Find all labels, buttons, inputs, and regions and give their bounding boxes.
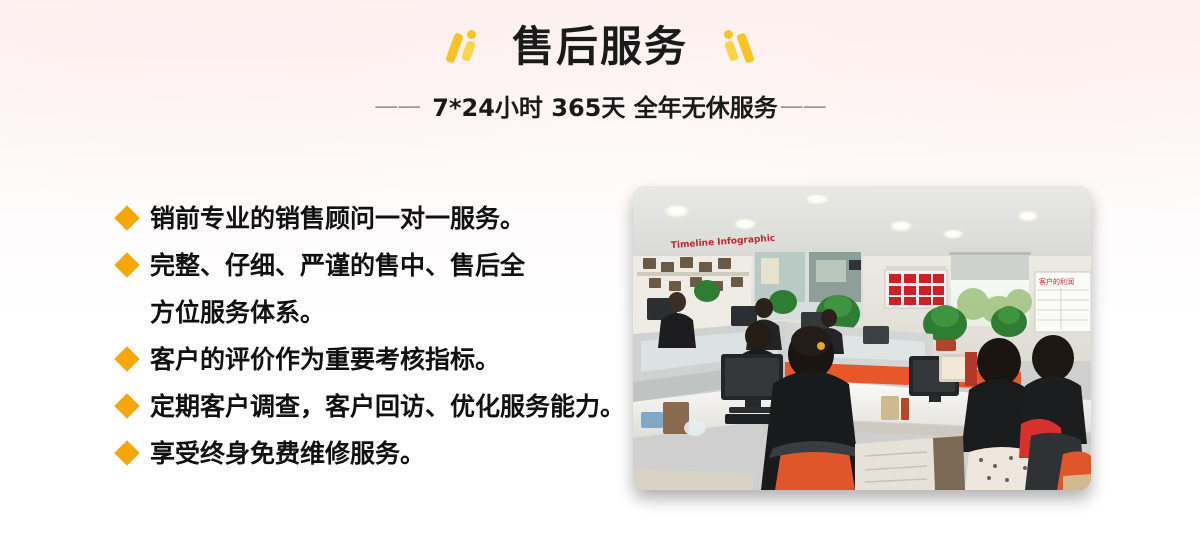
list-item: 客户的评价作为重要考核指标。: [118, 341, 618, 379]
office-photo-image: Timeline Infographic: [633, 186, 1091, 490]
list-item: 完整、仔细、严谨的售中、售后全: [118, 247, 618, 285]
quote-mark-right-icon: [718, 27, 756, 67]
list-item-continuation: 方位服务体系。: [118, 294, 618, 332]
office-photo-illustration: Timeline Infographic: [633, 186, 1091, 490]
list-item-label: 享受终身免费维修服务。: [150, 435, 425, 473]
subtitle-dash-left: ——: [374, 92, 420, 120]
list-item: 定期客户调查，客户回访、优化服务能力。: [118, 388, 618, 426]
diamond-bullet-icon: [114, 252, 139, 277]
title-row: 售后服务: [0, 14, 1200, 80]
subtitle: —— 7*24小时 365天 全年无休服务 ——: [0, 88, 1200, 123]
service-feature-list: 销前专业的销售顾问一对一服务。 完整、仔细、严谨的售中、售后全 方位服务体系。 …: [118, 200, 618, 482]
after-sales-service-banner: 售后服务 —— 7*24小时 365天 全年无休服务 —— 销前专业的销售顾问一…: [0, 0, 1200, 556]
list-item: 享受终身免费维修服务。: [118, 435, 618, 473]
subtitle-dash-right: ——: [780, 92, 826, 120]
header: 售后服务 —— 7*24小时 365天 全年无休服务 ——: [0, 0, 1200, 123]
diamond-bullet-icon: [114, 393, 139, 418]
diamond-bullet-icon: [114, 346, 139, 371]
diamond-bullet-icon: [114, 440, 139, 465]
office-photo: Timeline Infographic: [633, 186, 1091, 490]
subtitle-text: 7*24小时 365天 全年无休服务: [432, 88, 777, 123]
list-item-label: 定期客户调查，客户回访、优化服务能力。: [150, 388, 625, 426]
page-title: 售后服务: [512, 26, 688, 68]
quote-mark-left-icon: [444, 27, 482, 67]
svg-text:客户的利润: 客户的利润: [1039, 277, 1074, 286]
list-item-label: 完整、仔细、严谨的售中、售后全: [150, 247, 525, 285]
diamond-bullet-icon: [114, 205, 139, 230]
list-item: 销前专业的销售顾问一对一服务。: [118, 200, 618, 238]
list-item-label: 方位服务体系。: [150, 294, 325, 332]
list-item-label: 客户的评价作为重要考核指标。: [150, 341, 500, 379]
list-item-label: 销前专业的销售顾问一对一服务。: [150, 200, 525, 238]
